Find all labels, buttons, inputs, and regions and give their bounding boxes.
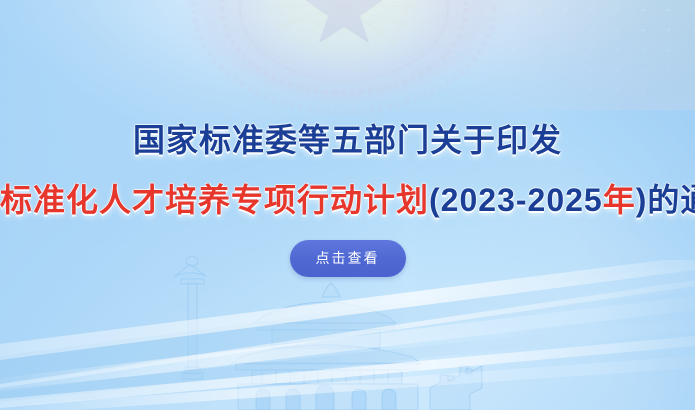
banner-title-line-1: 国家标准委等五部门关于印发 <box>0 120 695 160</box>
national-emblem-star-medallion-icon <box>179 0 509 128</box>
title-part-plan-name: 标准化人才培养专项行动计划 <box>0 182 429 218</box>
view-detail-button[interactable]: 点击查看 <box>290 240 406 277</box>
cta-container: 点击查看 <box>0 240 695 277</box>
decorative-light-ribbons <box>0 260 695 410</box>
title-part-notice-suffix: )的通知 <box>636 182 695 218</box>
policy-promo-banner: 国家标准委等五部门关于印发 标准化人才培养专项行动计划(2023-2025年)的… <box>0 0 695 410</box>
banner-title-line-2: 标准化人才培养专项行动计划(2023-2025年)的通知 <box>0 180 695 220</box>
title-part-year-char: 年 <box>603 182 636 218</box>
title-part-year-open: (2023-2025 <box>429 182 603 218</box>
